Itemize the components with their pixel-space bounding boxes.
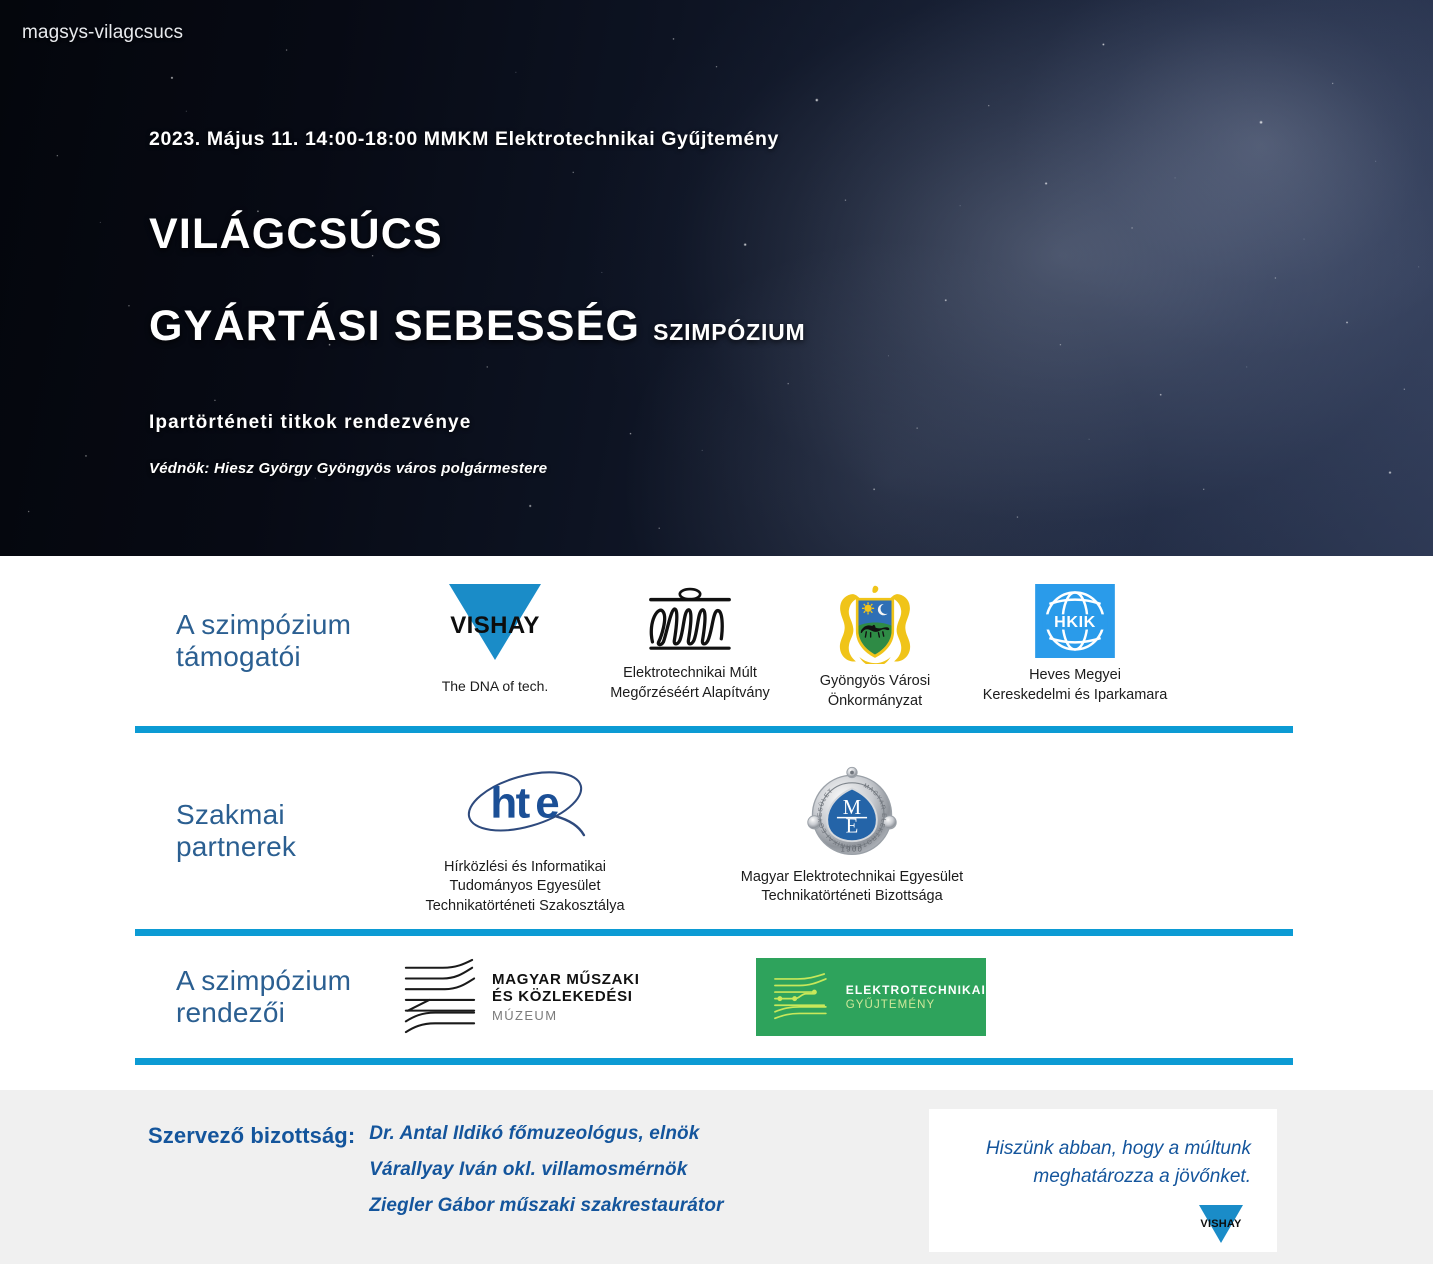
hero-copy: 2023. Május 11. 14:00-18:00 MMKM Elektro…	[149, 0, 1149, 477]
poster-title-line2-row: GYÁRTÁSI SEBESSÉG SZIMPÓZIUM	[149, 305, 1149, 348]
band-label-partners: Szakmai partnerek	[0, 799, 400, 863]
committee-member: Ziegler Gábor műszaki szakrestaurátor	[369, 1195, 723, 1217]
partner-bands: A szimpózium támogatói VISHAY The DNA of…	[0, 556, 1433, 1065]
band-professional-partners: Szakmai partnerek h t e Hírközlési és In…	[0, 733, 1433, 929]
poster-title-line1: VILÁGCSÚCS	[149, 213, 1149, 256]
emma-foundation-caption: Elektrotechnikai Múlt Megőrzéséért Alapí…	[610, 664, 770, 703]
hkik-wordmark: HKIK	[1054, 614, 1096, 632]
eg-wordmark: ELEKTROTECHNIKAI GYŰJTEMÉNY	[846, 983, 986, 1011]
logo-hte[interactable]: h t e Hírközlési és Informatikai Tudomán…	[400, 764, 650, 917]
mee-medallion-icon: MAGYAR ELEKTROTECHNIKAI EGYESÜLET M E 19…	[803, 764, 901, 860]
divider-3	[135, 1058, 1293, 1065]
poster-tagline: Ipartörténeti titkok rendezvénye	[149, 412, 1149, 434]
hkik-globe-icon: HKIK	[1035, 584, 1115, 658]
hte-caption: Hírközlési és Informatikai Tudományos Eg…	[425, 858, 624, 917]
circuit-lines-icon	[770, 968, 836, 1026]
eg-line2: GYŰJTEMÉNY	[846, 999, 986, 1011]
organiser-logo-row: MAGYAR MŰSZAKI ÉS KÖZLEKEDÉSI MÚZEUM	[400, 958, 1433, 1036]
svg-text:e: e	[535, 778, 559, 827]
organising-committee: Szervező bizottság: Dr. Antal Ildikó főm…	[148, 1123, 724, 1217]
committee-member: Dr. Antal Ildikó főmuzeológus, elnök	[369, 1123, 723, 1145]
hero-banner: magsys-vilagcsucs 2023. Május 11. 14:00-…	[0, 0, 1433, 556]
svg-text:t: t	[516, 778, 531, 827]
quote-vishay-wordmark: VISHAY	[1191, 1218, 1251, 1230]
hte-wordmark: h	[490, 778, 517, 827]
divider-2	[135, 929, 1293, 936]
quote-line-2: meghatározza a jövőnket.	[1033, 1166, 1251, 1187]
logo-mmkm[interactable]: MAGYAR MŰSZAKI ÉS KÖZLEKEDÉSI MÚZEUM	[400, 958, 700, 1036]
mee-caption: Magyar Elektrotechnikai Egyesület Techni…	[741, 868, 963, 907]
mmkm-lines-icon	[400, 958, 478, 1036]
logo-emma-foundation[interactable]: Elektrotechnikai Múlt Megőrzéséért Alapí…	[590, 584, 790, 703]
vishay-tagline: The DNA of tech.	[442, 678, 549, 694]
vishay-logo-icon: VISHAY	[435, 584, 555, 662]
mmkm-line2: ÉS KÖZLEKEDÉSI	[492, 988, 640, 1006]
committee-label: Szervező bizottság:	[148, 1123, 355, 1217]
band-sponsors: A szimpózium támogatói VISHAY The DNA of…	[0, 556, 1433, 726]
poster-page: magsys-vilagcsucs 2023. Május 11. 14:00-…	[0, 0, 1433, 1264]
poster-patron: Védnök: Hiesz György Gyöngyös város polg…	[149, 460, 1149, 477]
poster-title-line2: GYÁRTÁSI SEBESSÉG	[149, 305, 640, 348]
partner-logo-row: h t e Hírközlési és Informatikai Tudomán…	[400, 746, 1433, 917]
band-label-organisers: A szimpózium rendezői	[0, 965, 400, 1029]
band-organisers: A szimpózium rendezői	[0, 936, 1433, 1058]
logo-elektrotechnikai-gyujtemeny[interactable]: ELEKTROTECHNIKAI GYŰJTEMÉNY	[756, 958, 986, 1036]
divider-1	[135, 726, 1293, 733]
committee-member: Várallyay Iván okl. villamosmérnök	[369, 1159, 723, 1181]
logo-gyongyos-crest[interactable]: Gyöngyös Városi Önkormányzat	[790, 584, 960, 711]
quote-vishay-logo-icon: VISHAY	[1191, 1205, 1251, 1247]
quote-card: Hiszünk abban, hogy a múltunk meghatároz…	[929, 1109, 1277, 1252]
vishay-wordmark: VISHAY	[435, 612, 555, 640]
gyongyos-coat-of-arms-icon	[832, 584, 918, 664]
quote-text: Hiszünk abban, hogy a múltunk meghatároz…	[951, 1135, 1251, 1190]
band-label-sponsors: A szimpózium támogatói	[0, 609, 400, 673]
gyongyos-caption: Gyöngyös Városi Önkormányzat	[820, 672, 930, 711]
logo-hkik[interactable]: HKIK Heves Megyei Kereskedelmi és Iparka…	[960, 584, 1190, 705]
mmkm-line3: MÚZEUM	[492, 1008, 640, 1023]
event-date-venue: 2023. Május 11. 14:00-18:00 MMKM Elektro…	[149, 128, 1149, 151]
logo-vishay[interactable]: VISHAY The DNA of tech.	[400, 584, 590, 694]
hkik-caption: Heves Megyei Kereskedelmi és Iparkamara	[983, 666, 1168, 705]
mee-letter-e: E	[846, 815, 859, 837]
poster-title-suffix: SZIMPÓZIUM	[653, 321, 805, 344]
mmkm-line1: MAGYAR MŰSZAKI	[492, 971, 640, 989]
hte-logo-icon: h t e	[445, 764, 605, 850]
quote-line-1: Hiszünk abban, hogy a múltunk	[986, 1138, 1251, 1159]
committee-name-list: Dr. Antal Ildikó főmuzeológus, elnök Vár…	[369, 1123, 723, 1217]
logo-mee[interactable]: MAGYAR ELEKTROTECHNIKAI EGYESÜLET M E 19…	[702, 764, 1002, 907]
emma-script-icon	[635, 584, 745, 656]
sponsor-logo-row: VISHAY The DNA of tech. Elektrotechnikai…	[400, 570, 1433, 711]
mee-year: 1900	[841, 844, 864, 853]
mmkm-wordmark: MAGYAR MŰSZAKI ÉS KÖZLEKEDÉSI MÚZEUM	[492, 971, 640, 1024]
eg-line1: ELEKTROTECHNIKAI	[846, 983, 986, 997]
